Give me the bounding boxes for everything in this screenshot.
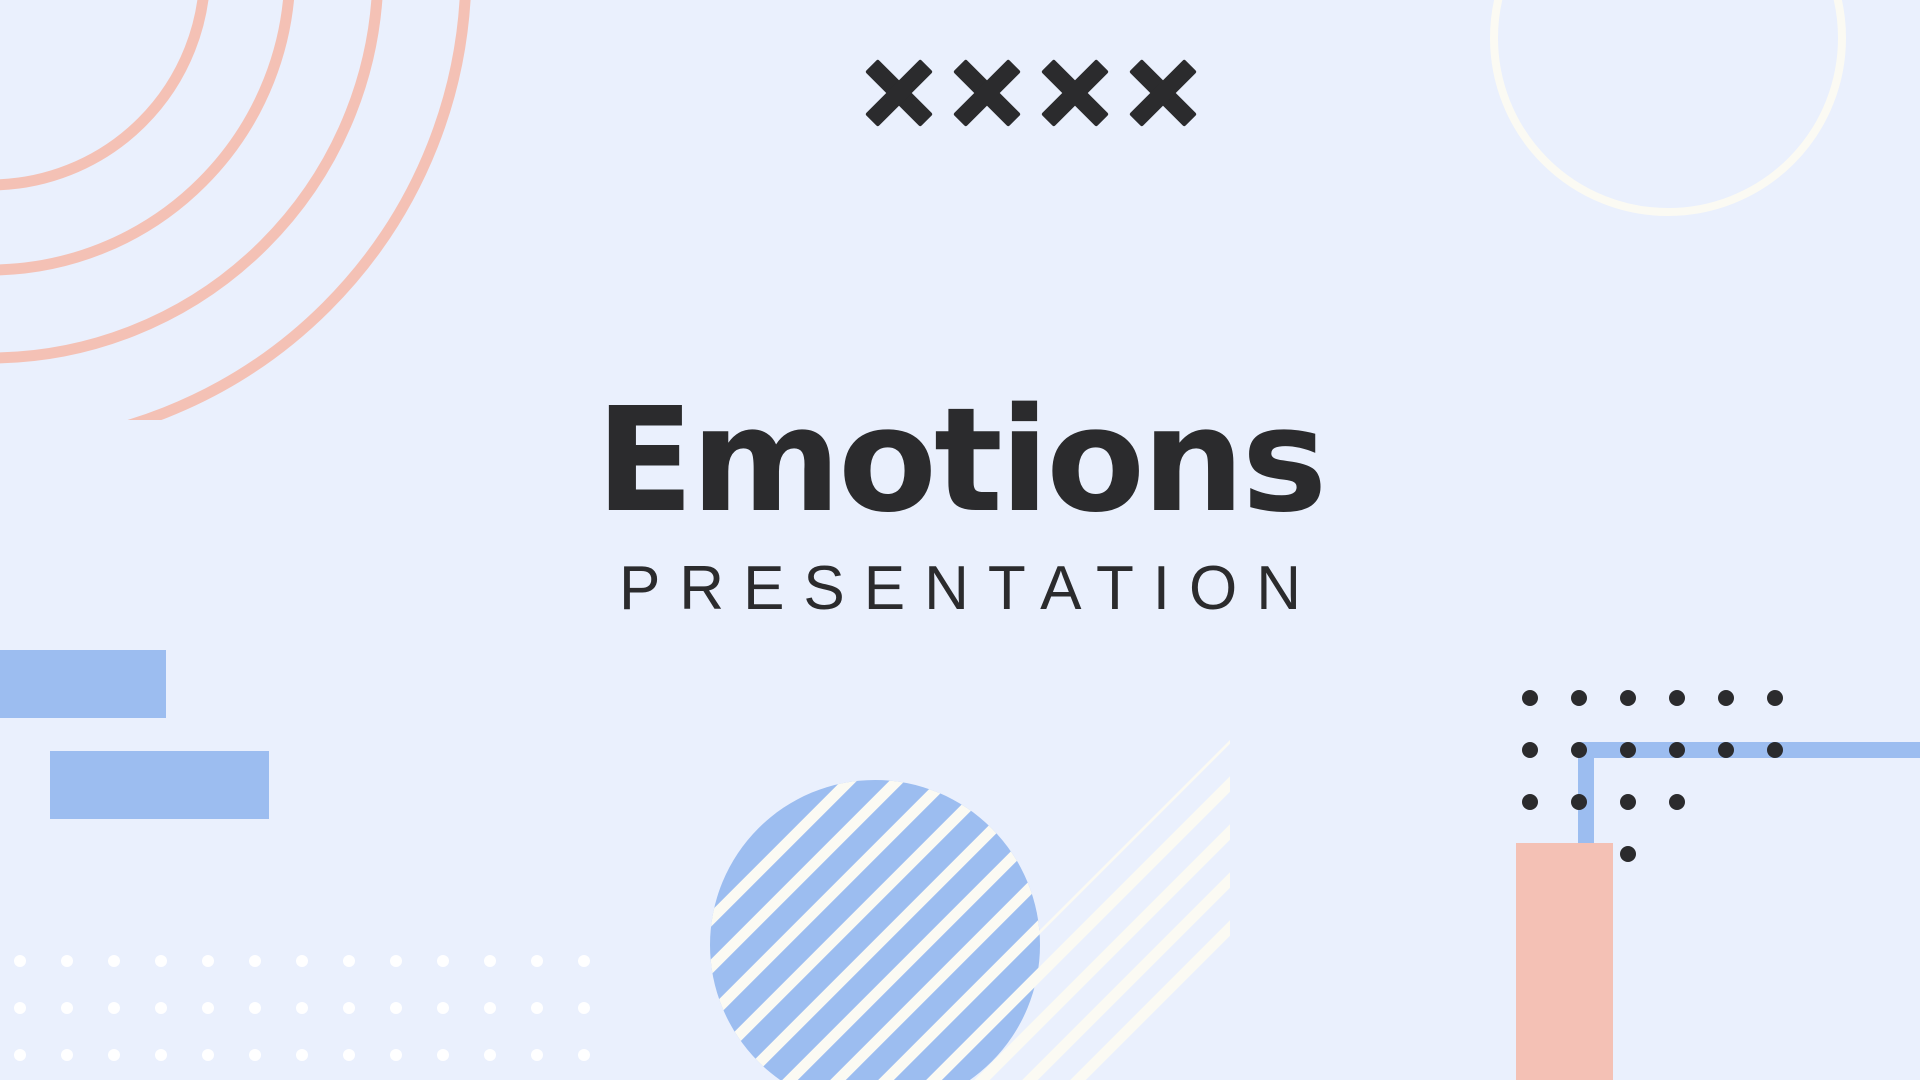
presentation-slide: Emotions PRESENTATION [0, 0, 1920, 1080]
page-subtitle: PRESENTATION [0, 558, 1920, 620]
page-title: Emotions [0, 388, 1920, 532]
blue-bar-top [0, 650, 166, 718]
title-block: Emotions PRESENTATION [0, 388, 1920, 620]
striped-circle [690, 700, 1230, 1080]
pink-vertical-bar [1516, 843, 1613, 1080]
x-mark-icon [956, 62, 1018, 124]
concentric-arcs [0, 0, 760, 420]
white-dot-field [14, 955, 614, 1080]
outline-circle-icon [1490, 0, 1846, 216]
blue-bar-bottom [50, 751, 269, 819]
x-mark-row [868, 62, 1194, 124]
x-mark-icon [868, 62, 930, 124]
x-mark-icon [1044, 62, 1106, 124]
x-mark-icon [1132, 62, 1194, 124]
